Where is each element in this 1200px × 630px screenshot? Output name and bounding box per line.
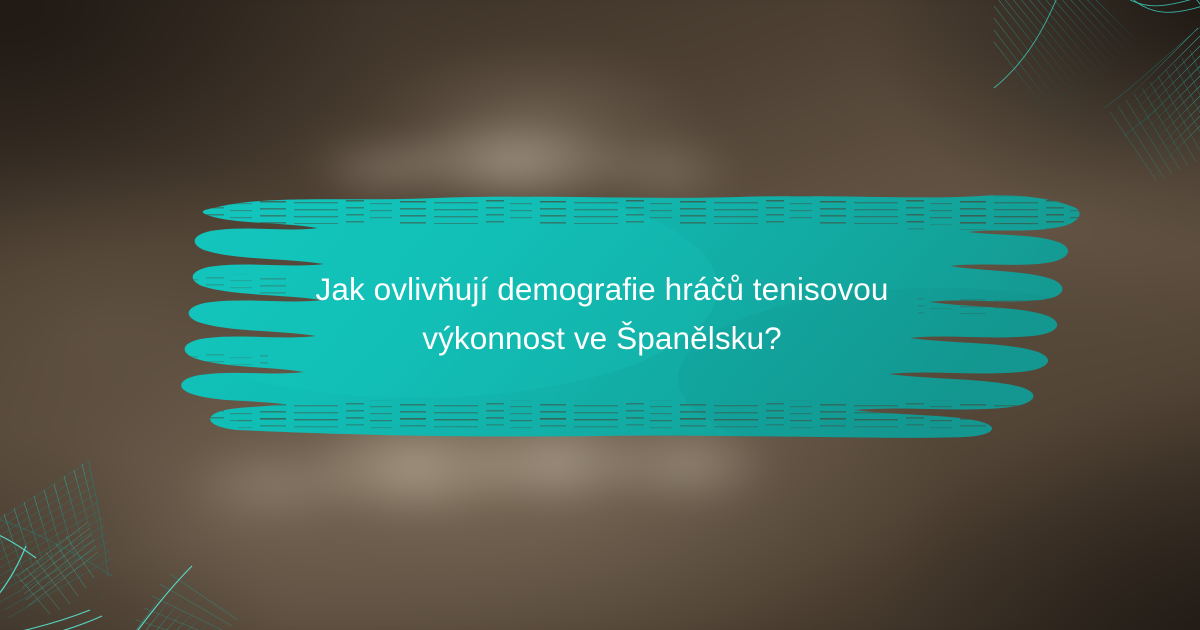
headline-line-2: výkonnost ve Španělsku? [422,320,782,357]
headline: Jak ovlivňují demografie hráčů tenisovou… [118,178,1086,450]
headline-line-1: Jak ovlivňují demografie hráčů tenisovou [315,271,888,308]
title-card: Jak ovlivňují demografie hráčů tenisovou… [0,0,1200,630]
